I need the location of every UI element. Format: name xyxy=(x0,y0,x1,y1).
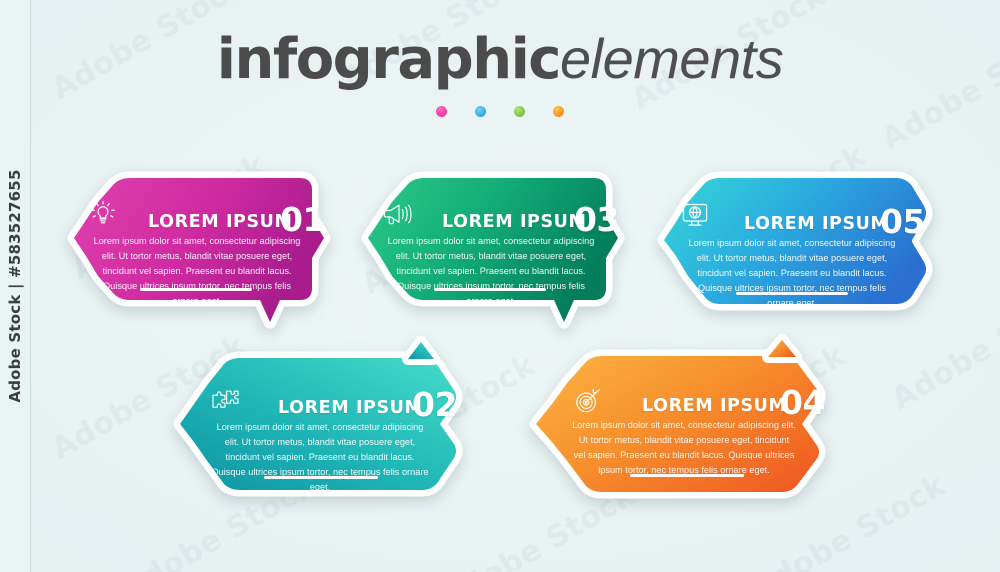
dot-row xyxy=(0,106,1000,117)
title-bold: infographic xyxy=(217,27,560,92)
page-title: infographicelements xyxy=(0,30,1000,90)
card-02[interactable]: LOREM IPSUM 02 Lorem ipsum dolor sit ame… xyxy=(172,340,482,505)
card-04-shape xyxy=(520,340,850,510)
dot-orange xyxy=(553,106,564,117)
title-light: elements xyxy=(560,27,783,90)
card-01[interactable]: LOREM IPSUM 01 Lorem ipsum dolor sit ame… xyxy=(62,170,332,330)
card-03[interactable]: LOREM IPSUM 03 Lorem ipsum dolor sit ame… xyxy=(356,170,626,330)
infographic-canvas: Adobe Stock Adobe Stock Adobe Stock Adob… xyxy=(0,0,1000,572)
stock-sidebar: Adobe Stock | #583527655 xyxy=(0,0,31,572)
header: infographicelements xyxy=(0,30,1000,117)
card-05[interactable]: LOREM IPSUM 05 Lorem ipsum dolor sit ame… xyxy=(652,170,932,320)
card-04[interactable]: LOREM IPSUM 04 Lorem ipsum dolor sit ame… xyxy=(520,340,850,510)
stock-id-label: Adobe Stock | #583527655 xyxy=(6,169,24,402)
card-03-shape xyxy=(356,170,626,330)
dot-pink xyxy=(436,106,447,117)
dot-blue xyxy=(475,106,486,117)
card-02-shape xyxy=(172,340,482,505)
card-05-shape xyxy=(652,170,932,320)
dot-green xyxy=(514,106,525,117)
card-01-shape xyxy=(62,170,332,330)
